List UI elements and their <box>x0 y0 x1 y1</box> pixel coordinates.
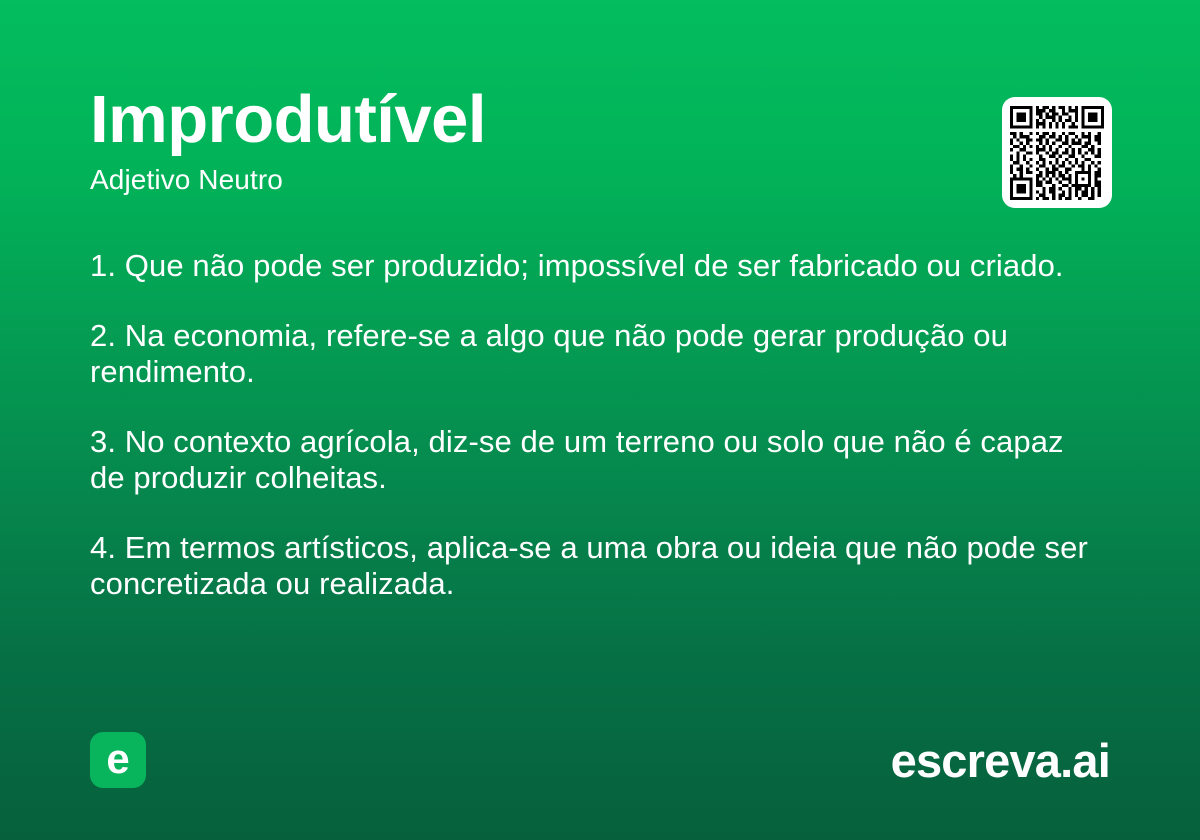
card-header: Improdutível Adjetivo Neutro <box>90 86 1110 196</box>
page-title: Improdutível <box>90 86 1110 153</box>
definition-card: Improdutível Adjetivo Neutro <box>0 0 1200 840</box>
brand-logo-letter: e <box>106 738 129 780</box>
brand-logo-icon: e <box>90 732 146 788</box>
word-class-label: Adjetivo Neutro <box>90 165 1110 196</box>
card-footer: e escreva.ai <box>90 732 1110 788</box>
brand-wordmark: escreva.ai <box>891 737 1110 784</box>
definition-item: 1. Que não pode ser produzido; impossíve… <box>90 248 1090 284</box>
definition-list: 1. Que não pode ser produzido; impossíve… <box>90 248 1090 602</box>
qr-code-icon <box>1010 106 1104 200</box>
definition-item: 4. Em termos artísticos, aplica-se a uma… <box>90 530 1090 602</box>
qr-code-card[interactable] <box>1002 97 1112 208</box>
definition-item: 2. Na economia, refere-se a algo que não… <box>90 318 1090 390</box>
definition-item: 3. No contexto agrícola, diz-se de um te… <box>90 424 1090 496</box>
